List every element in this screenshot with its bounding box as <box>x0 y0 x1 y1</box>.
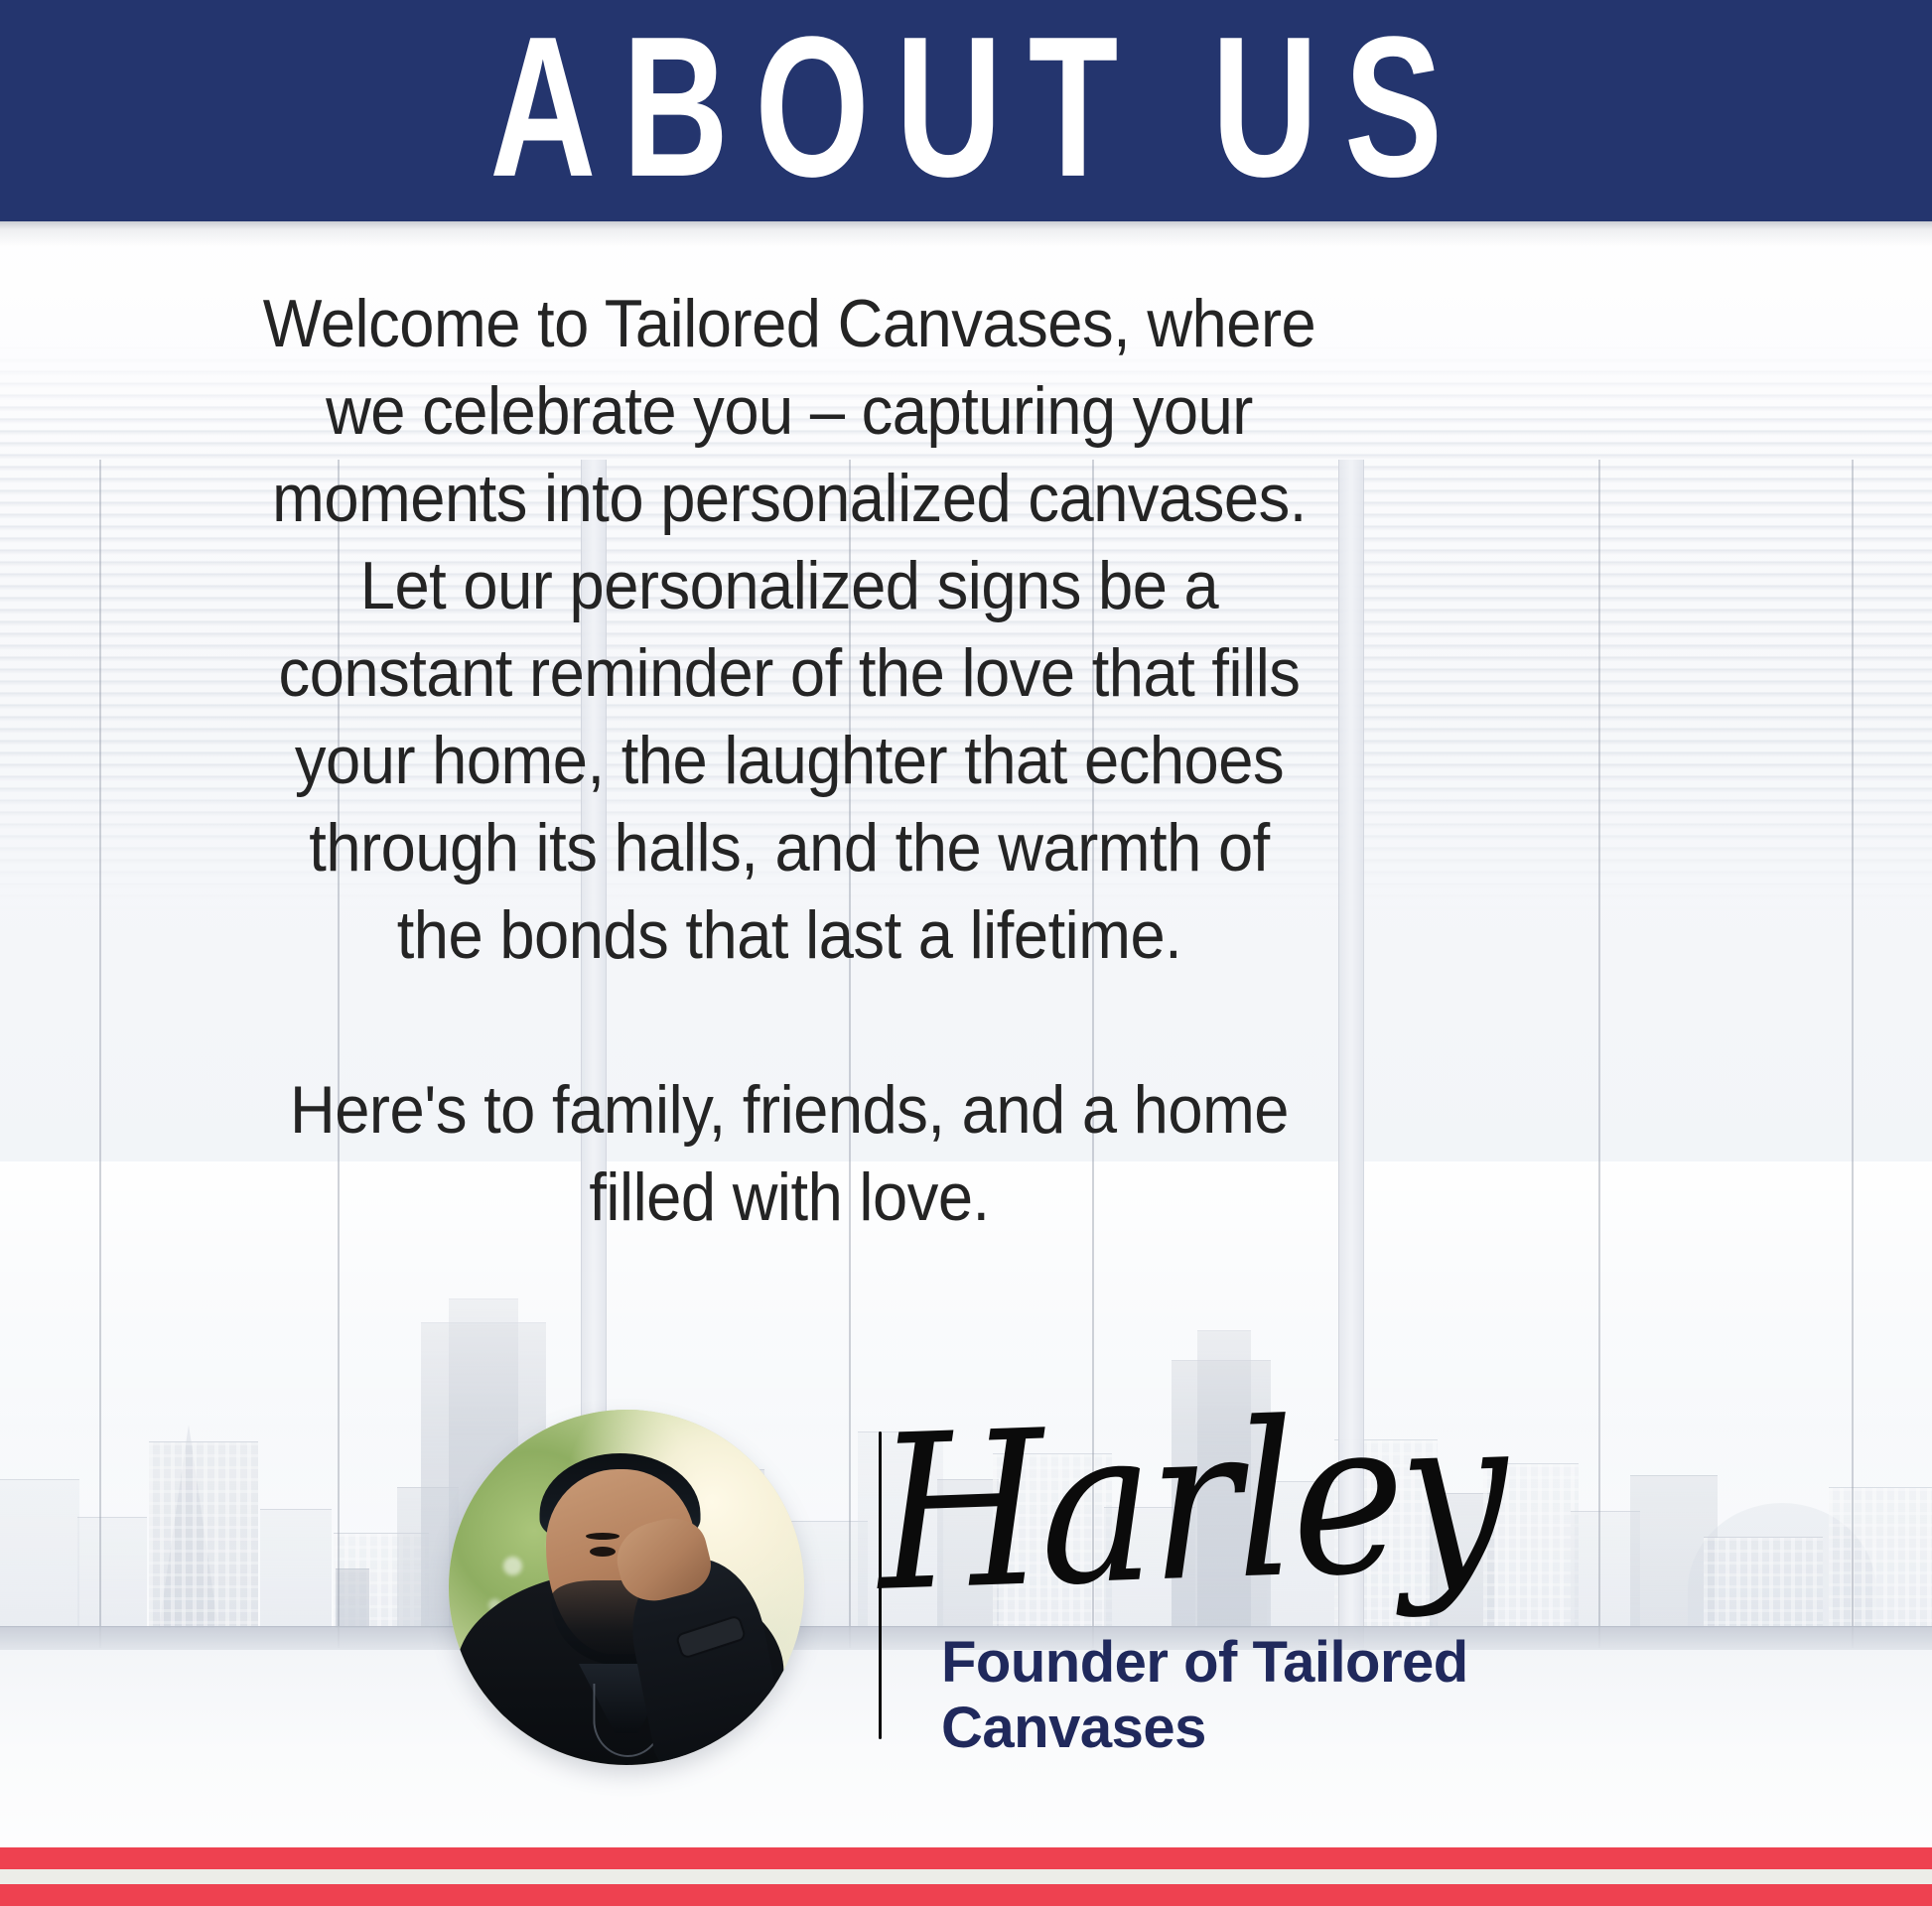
page-title: ABOUT US <box>464 10 1469 204</box>
about-us-page: ABOUT US Welcome to Tailored Canvases, w… <box>0 0 1932 1906</box>
window-mullion-wide <box>1338 460 1364 1648</box>
about-paragraph-2: Here's to family, friends, and a home fi… <box>258 1066 1320 1241</box>
header-banner: ABOUT US <box>0 0 1932 221</box>
about-paragraph-1: Welcome to Tailored Canvases, where we c… <box>258 280 1320 979</box>
window-mullion <box>1852 460 1854 1648</box>
footer-stripe-bottom <box>0 1884 1932 1906</box>
portrait-eyebrow-left <box>586 1533 620 1540</box>
footer-stripe-top <box>0 1847 1932 1869</box>
avatar <box>449 1410 804 1765</box>
window-sill <box>0 1626 1932 1650</box>
portrait-eye-left <box>590 1547 616 1557</box>
header-shadow <box>0 221 1932 247</box>
paragraph-spacer <box>258 979 1320 1066</box>
window-mullion <box>1598 460 1600 1648</box>
founder-portrait-photo <box>449 1410 804 1765</box>
about-copy: Welcome to Tailored Canvases, where we c… <box>258 280 1320 1241</box>
window-mullion <box>99 460 101 1648</box>
footer-stripe-gap <box>0 1869 1932 1884</box>
